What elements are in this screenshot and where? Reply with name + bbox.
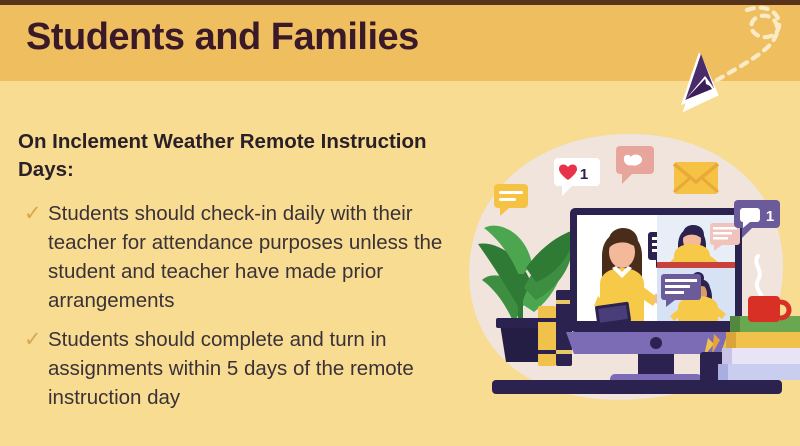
- page-title: Students and Families: [26, 16, 419, 59]
- illustration-svg: 1 1: [462, 128, 800, 418]
- list-item-text: Students should complete and turn in ass…: [48, 325, 458, 412]
- paper-plane-icon: [655, 4, 800, 114]
- slide-canvas: Students and Families On Inclement Weath…: [0, 0, 800, 446]
- section-subheading: On Inclement Weather Remote Instruction …: [18, 128, 458, 185]
- list-item: ✓ Students should complete and turn in a…: [18, 325, 458, 412]
- desk: [492, 380, 782, 394]
- book-stack-right: [718, 316, 800, 380]
- message-icon: [740, 208, 760, 222]
- checkmark-icon: ✓: [18, 199, 48, 229]
- content-text-column: On Inclement Weather Remote Instruction …: [18, 128, 458, 422]
- checkmark-icon: ✓: [18, 325, 48, 355]
- envelope-icon: [674, 162, 718, 194]
- paper-plane-decoration: [655, 4, 800, 114]
- list-item-text: Students should check-in daily with thei…: [48, 199, 458, 315]
- student-video-panel-2: [657, 268, 735, 321]
- envelope-badge: [674, 162, 718, 194]
- list-item: ✓ Students should check-in daily with th…: [18, 199, 458, 315]
- remote-learning-illustration: 1 1: [462, 128, 800, 418]
- message-badge-count: 1: [766, 208, 774, 225]
- heart-badge-count: 1: [580, 166, 588, 183]
- student-video-panel-1: [657, 215, 740, 270]
